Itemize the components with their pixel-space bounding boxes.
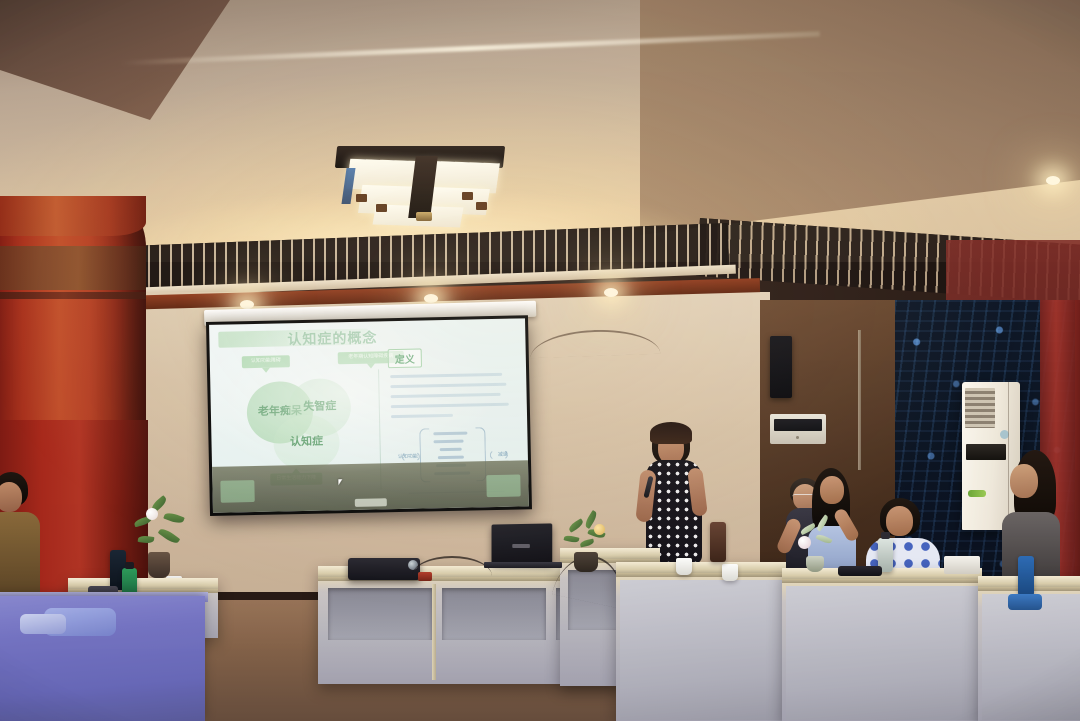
wall-conduit <box>858 330 861 470</box>
ac-vent <box>965 388 995 428</box>
audience-desk <box>782 568 982 721</box>
downlight <box>1046 176 1060 185</box>
thermos-bottle <box>710 522 726 562</box>
slide-circle-3: 认知症 <box>273 414 340 471</box>
laptop-brand-logo <box>512 544 530 548</box>
flower-arrangement <box>560 510 612 572</box>
room-photo-scene: 认知症的概念 认知功能障碍 老年期认知障碍疾病 日常生活能力下降 老年痴呆 失智… <box>0 0 1080 721</box>
downlight <box>424 294 438 303</box>
slide-tag-top-left: 认知功能障碍 <box>242 355 290 368</box>
downlight <box>604 288 618 297</box>
red-column-band-lower <box>0 292 146 299</box>
mouse-cursor-icon <box>338 479 345 485</box>
wall-control-panel <box>770 414 826 444</box>
wall-speaker-icon <box>770 336 792 398</box>
cloth-item <box>20 614 66 634</box>
slide-footer-tag-right <box>486 474 520 497</box>
slide-body-line <box>390 383 506 388</box>
projector-icon <box>348 558 420 580</box>
projection-screen: 认知症的概念 认知功能障碍 老年期认知障碍疾病 日常生活能力下降 老年痴呆 失智… <box>206 315 532 516</box>
slide-body-line <box>391 393 501 398</box>
red-column-top <box>0 196 146 236</box>
slide-footer-tag-left <box>220 480 254 503</box>
eyeglasses-case <box>838 566 882 576</box>
slide-body-line <box>391 414 453 418</box>
ceiling-light-icon <box>330 146 510 228</box>
brace-left-label: 认知功能 <box>398 453 418 460</box>
paper-cup <box>676 558 692 575</box>
paper-sheet <box>944 556 980 574</box>
red-column-band <box>0 246 146 290</box>
slide-footer <box>212 460 529 513</box>
paper-cup <box>722 564 738 581</box>
slide-body-line <box>391 403 509 408</box>
flower-arrangement <box>790 512 842 572</box>
laptop-icon <box>492 523 553 564</box>
ac-brand-logo <box>968 490 986 497</box>
audience-member <box>0 472 48 602</box>
blue-pouch <box>1008 594 1042 610</box>
potted-plant <box>128 498 188 578</box>
slide-body-line <box>390 373 502 378</box>
audience-desk <box>616 562 786 721</box>
slide-title: 认知症的概念 <box>287 326 437 349</box>
laptop-base <box>484 562 562 568</box>
brace-right-label: 减退 <box>498 451 508 458</box>
thermos-bottle <box>1018 556 1034 596</box>
slide-definition-label: 定义 <box>388 348 422 368</box>
slide-footer-chip <box>355 498 387 507</box>
slide-content: 认知症的概念 认知功能障碍 老年期认知障碍疾病 日常生活能力下降 老年痴呆 失智… <box>209 318 529 513</box>
